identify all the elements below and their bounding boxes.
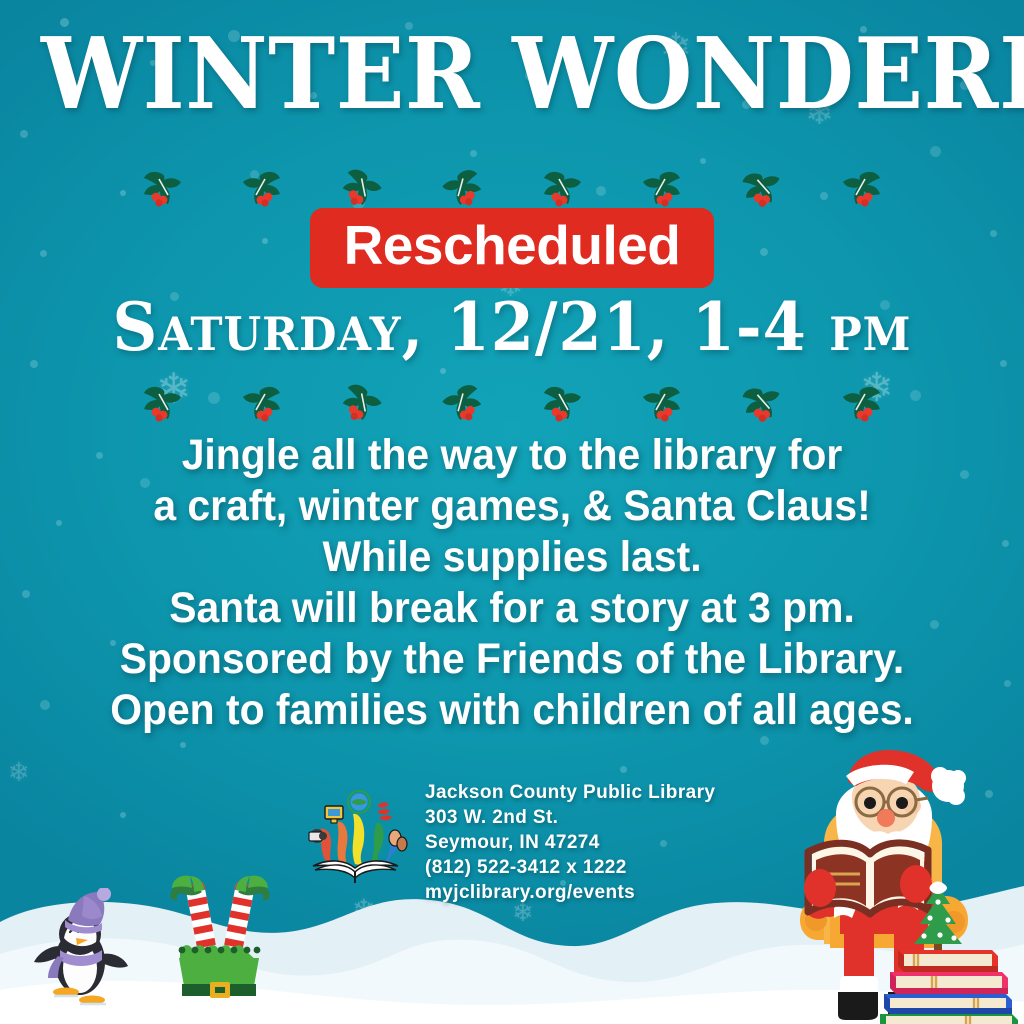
description-line: Santa will break for a story at 3 pm.: [26, 583, 999, 634]
description-line: While supplies last.: [26, 532, 999, 583]
winter-wonderland-poster: ❄ ❄ ❄ ❄ ❄ ❄ ❄ ❄ WINTER WONDERLAND Resche…: [0, 0, 1024, 1024]
holly-icon: [235, 381, 289, 423]
holly-icon: [535, 166, 589, 208]
holly-row-top: [0, 164, 1024, 210]
library-website[interactable]: myjclibrary.org/events: [425, 880, 715, 905]
holly-icon: [235, 166, 289, 208]
snowflake-icon: ❄: [8, 760, 30, 786]
description-line: Sponsored by the Friends of the Library.: [26, 634, 999, 685]
description-line: Jingle all the way to the library for: [26, 430, 999, 481]
rescheduled-badge-container: Rescheduled: [0, 208, 1024, 288]
elf-legs-illustration: [160, 866, 278, 1001]
library-phone: (812) 522-3412 x 1222: [425, 855, 715, 880]
description-line: a craft, winter games, & Santa Claus!: [26, 481, 999, 532]
library-street: 303 W. 2nd St.: [425, 805, 715, 830]
description-line: Open to families with children of all ag…: [26, 685, 999, 736]
holly-icon: [535, 381, 589, 423]
holly-icon: [735, 166, 789, 208]
holly-icon: [835, 166, 889, 208]
holly-icon: [135, 381, 189, 423]
holly-icon: [835, 381, 889, 423]
status-badge: Rescheduled: [310, 208, 715, 288]
holly-icon: [435, 381, 489, 423]
skating-penguin-illustration: [22, 888, 142, 1018]
book-stack-illustration: [880, 880, 1024, 1024]
contact-info-block: Jackson County Public Library 303 W. 2nd…: [425, 780, 715, 905]
library-name: Jackson County Public Library: [425, 780, 715, 805]
holly-icon: [335, 381, 389, 423]
event-description: Jingle all the way to the library for a …: [26, 430, 999, 736]
snowflake-icon: ❄: [352, 896, 375, 924]
library-city-state-zip: Seymour, IN 47274: [425, 830, 715, 855]
holly-icon: [135, 166, 189, 208]
poster-title: WINTER WONDERLAND: [41, 26, 983, 124]
holly-icon: [335, 166, 389, 208]
holly-icon: [435, 166, 489, 208]
holly-row-bottom: [0, 379, 1024, 425]
holly-icon: [635, 166, 689, 208]
event-date-line: Saturday, 12/21, 1-4 pm: [31, 294, 994, 360]
holly-icon: [735, 381, 789, 423]
library-logo-icon: [303, 788, 408, 883]
holly-icon: [635, 381, 689, 423]
